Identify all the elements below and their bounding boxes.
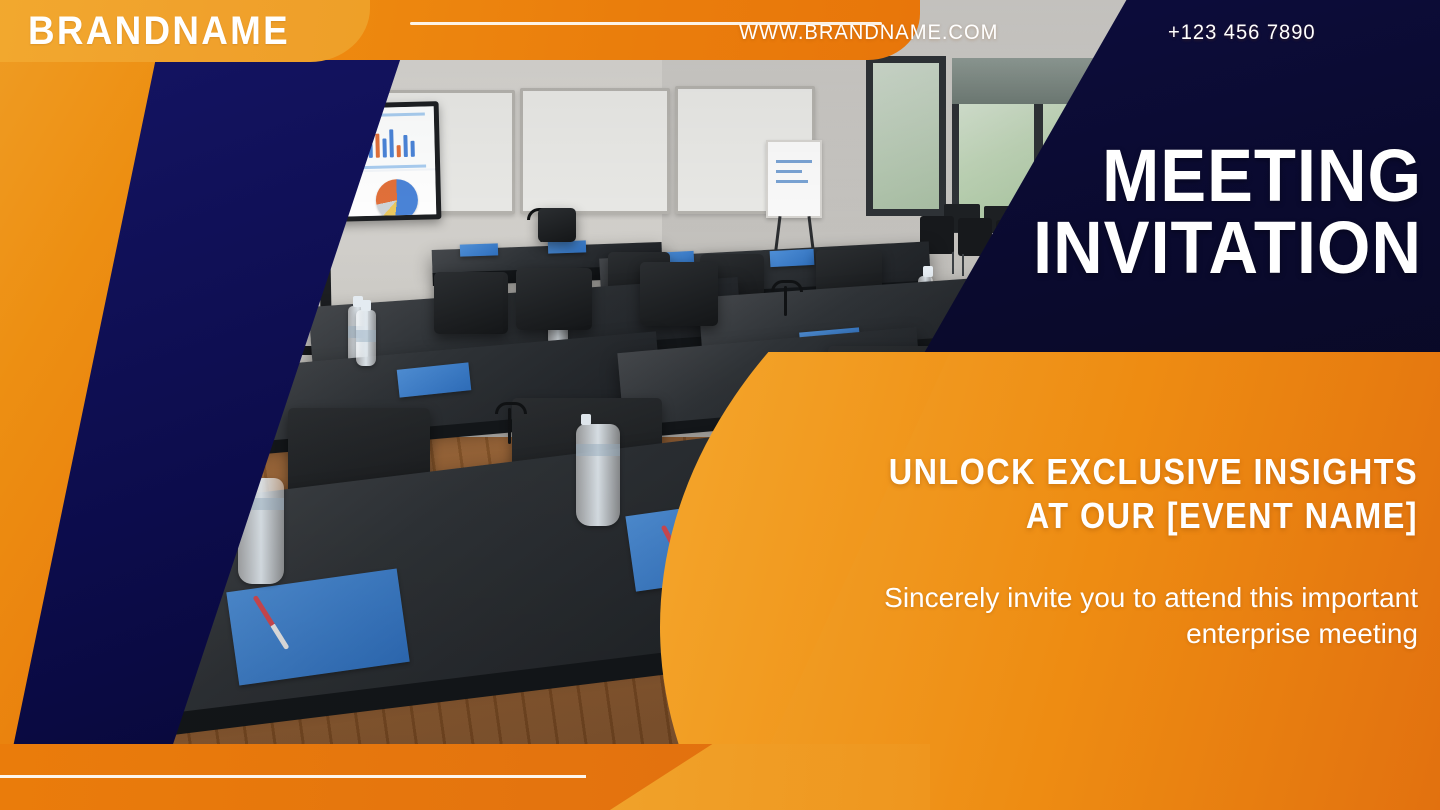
website-label: WWW.BRANDNAME.COM <box>739 21 998 45</box>
page-title: MEETING INVITATION <box>827 140 1422 284</box>
headline-line-1: UNLOCK EXCLUSIVE INSIGHTS <box>860 450 1418 494</box>
headline-line-2: AT OUR [EVENT NAME] <box>860 494 1418 538</box>
meeting-invitation-poster: BRANDNAME MEETING INVITATION UNLOCK EXCL… <box>0 0 1440 810</box>
footer-rule <box>0 775 586 778</box>
title-line-1: MEETING <box>827 140 1422 212</box>
phone-label: +123 456 7890 <box>1168 21 1316 45</box>
website-contact[interactable]: WWW.BRANDNAME.COM <box>700 19 1009 47</box>
body-copy: Sincerely invite you to attend this impo… <box>798 580 1418 652</box>
title-line-2: INVITATION <box>827 212 1422 284</box>
body-line-1: Sincerely invite you to attend this impo… <box>798 580 1418 616</box>
headline: UNLOCK EXCLUSIVE INSIGHTS AT OUR [EVENT … <box>860 450 1418 538</box>
body-line-2: enterprise meeting <box>798 616 1418 652</box>
brand-name: BRANDNAME <box>28 9 290 54</box>
